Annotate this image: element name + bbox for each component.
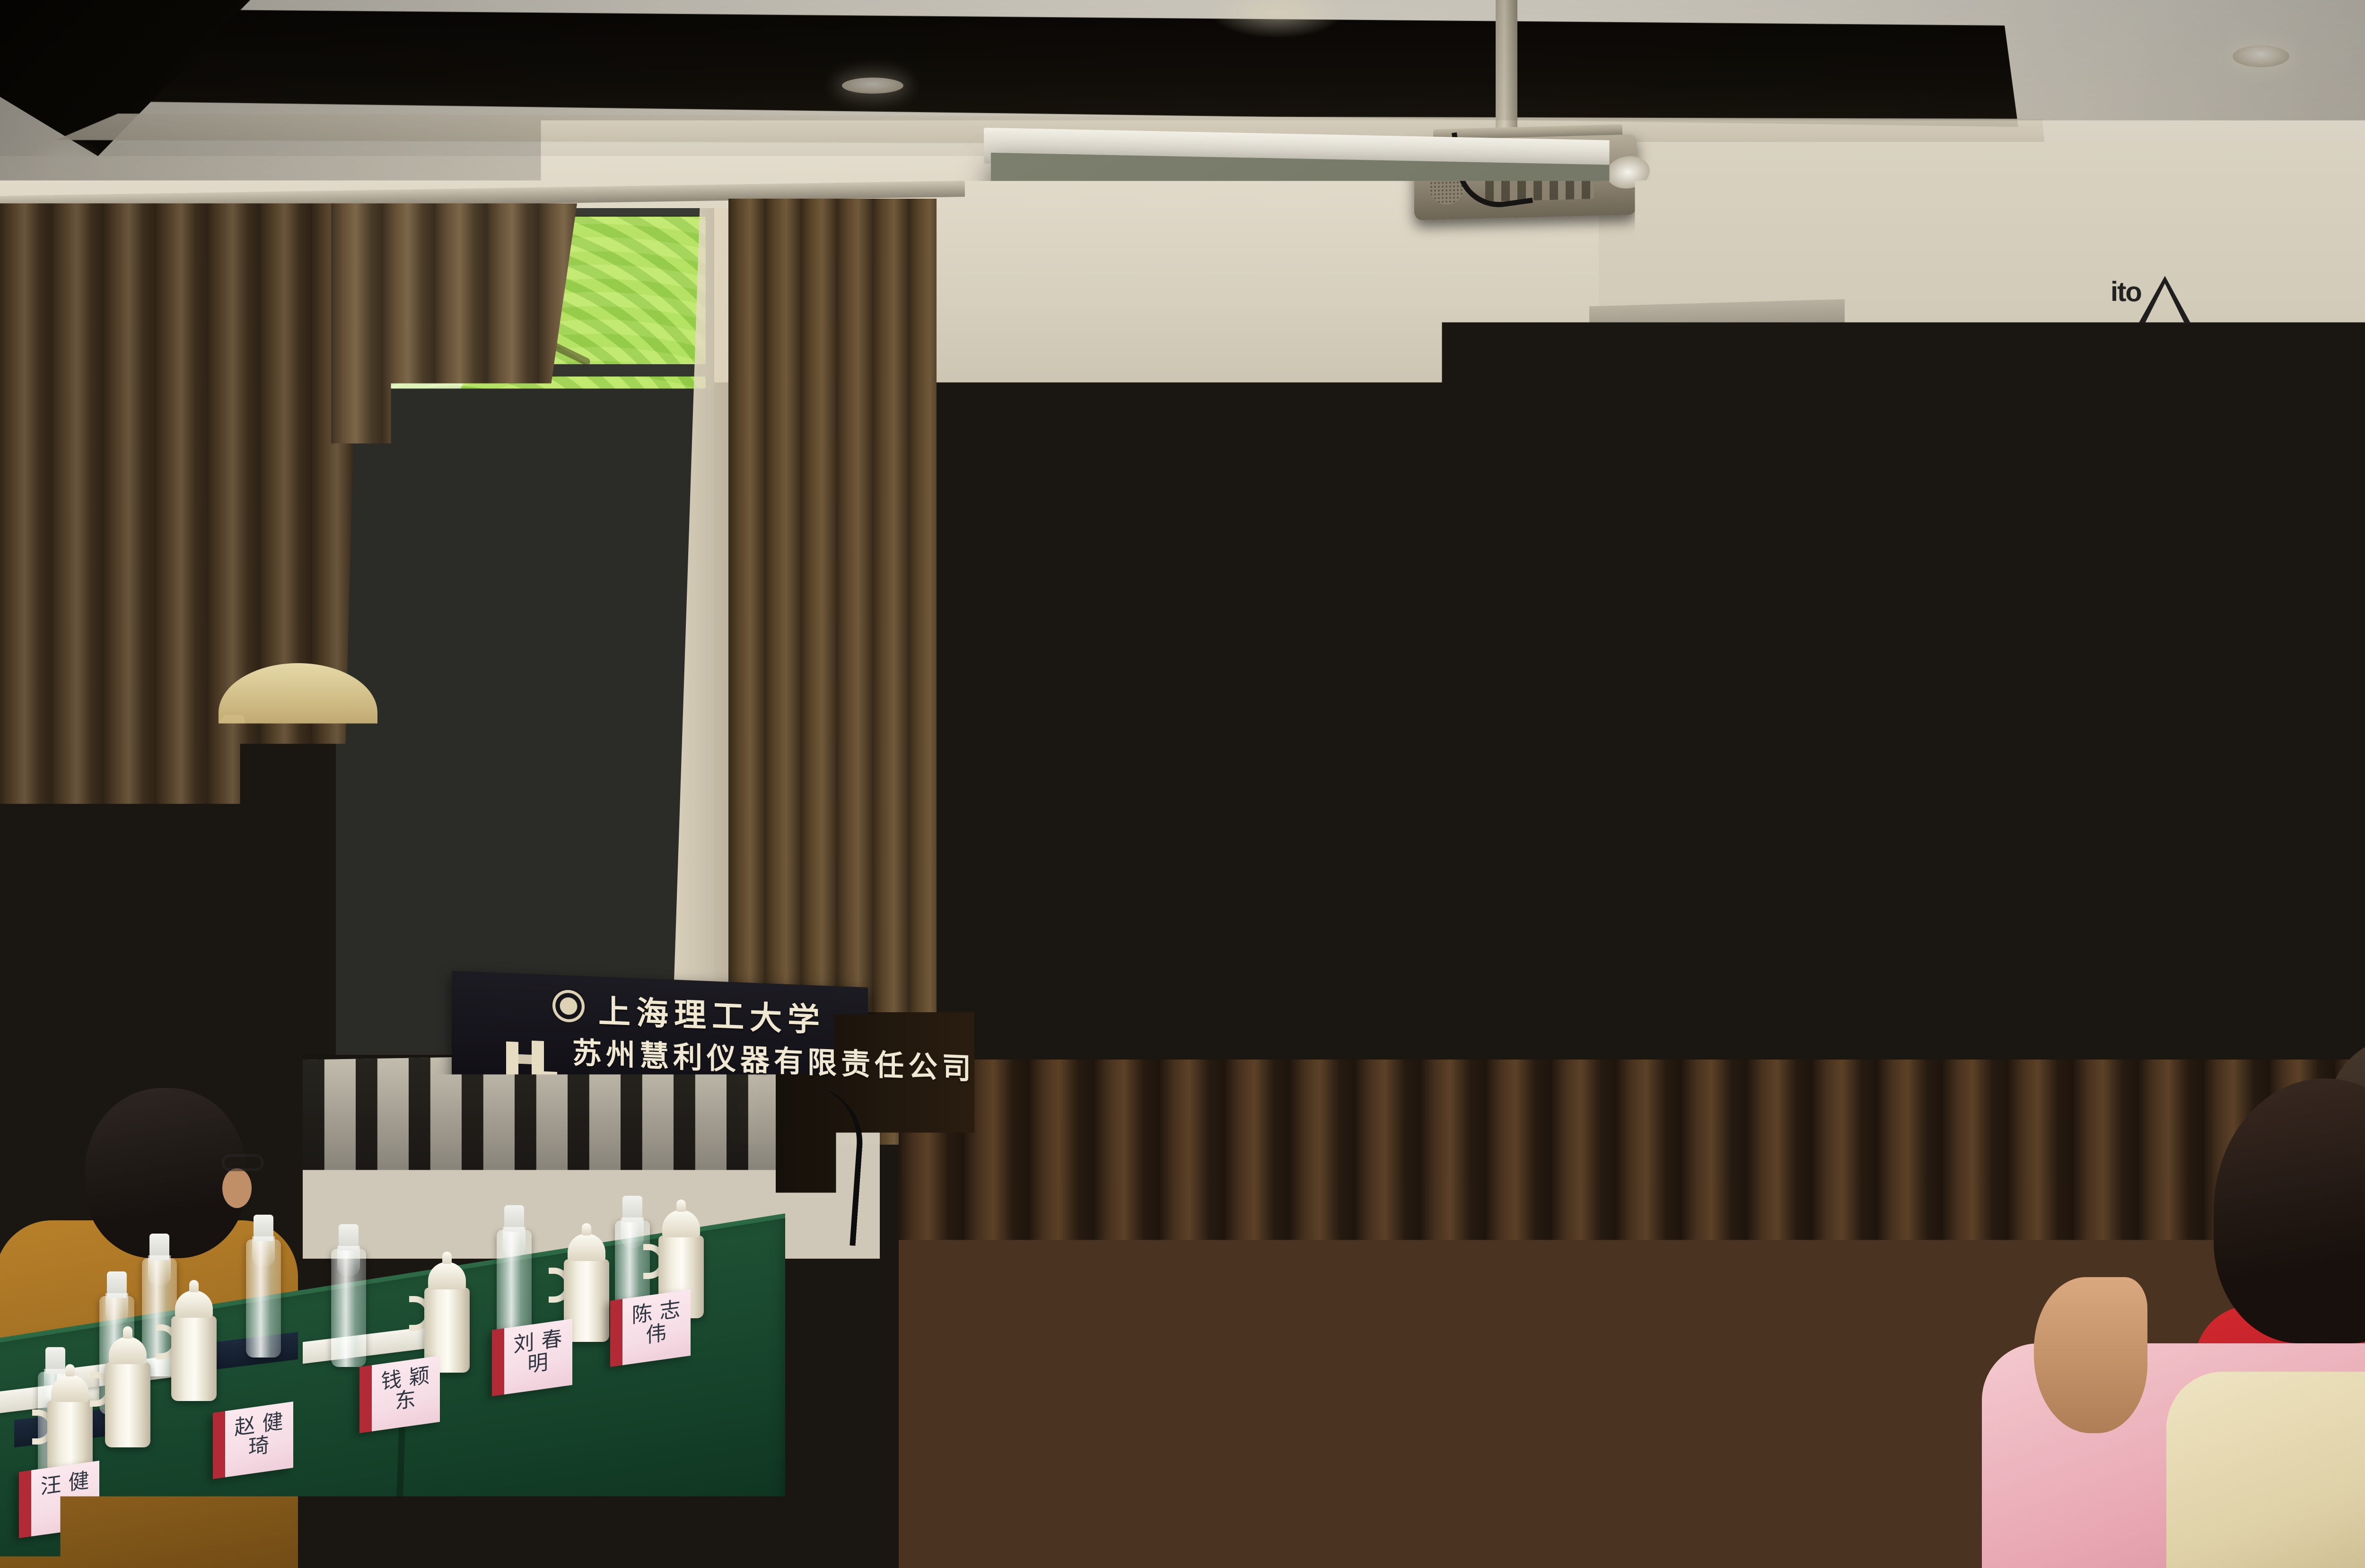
list-item: Optical Metrology: Advantages	[1587, 638, 2192, 685]
projector-mount-arm	[1496, 0, 1517, 142]
lidded-tea-mug[interactable]	[105, 1362, 150, 1447]
ito-logo-wordmark: ito	[2111, 276, 2141, 308]
list-item: Resolution Enhancement: Ways	[1587, 799, 2192, 846]
electromagnetic-field-simulation-figure	[1215, 545, 1536, 925]
bullet-square-icon	[1587, 643, 1612, 668]
name-card: 刘 春 明	[492, 1319, 572, 1396]
slide-footer: H&L-2024: 4	[2073, 965, 2190, 990]
name-card: 赵 健 琦	[213, 1402, 293, 1479]
downlight-icon	[842, 78, 903, 94]
water-bottle[interactable]	[497, 1230, 532, 1339]
podium-hl-instruments-logo-icon	[506, 1040, 558, 1087]
hl-logo-wordmark: INSTRUMENTS	[1161, 291, 1238, 305]
presenter-shirt-placket	[294, 894, 299, 1187]
audience-ear	[222, 1168, 252, 1208]
lidded-tea-mug[interactable]	[171, 1316, 217, 1401]
window-handle[interactable]	[662, 662, 674, 733]
presenter-eyebrow	[233, 733, 278, 739]
list-item: Optical Metrology: Disadvantages	[1587, 718, 2192, 765]
bullet-label: Resolution Enhancement: Ways	[1629, 800, 2125, 845]
name-card	[1745, 1489, 1826, 1567]
slide-header: INSTRUMENTS ito	[1159, 232, 2216, 342]
downlight-icon	[2233, 45, 2289, 67]
presenter-goatee	[265, 788, 336, 840]
presenter-mouth	[275, 800, 324, 812]
name-card-text: 赵 健 琦	[225, 1402, 293, 1463]
name-card-text: 钱 颖 东	[372, 1356, 440, 1417]
name-card: 陈 志 伟	[610, 1289, 691, 1367]
water-bottle[interactable]	[246, 1239, 281, 1358]
bullet-square-icon	[1587, 804, 1612, 829]
slide-header-rule	[1176, 306, 2122, 326]
slide-title: Different Approaches for Resolution Enha…	[1211, 334, 2166, 504]
name-card: 钱 颖 东	[359, 1356, 440, 1433]
projection-screen: INSTRUMENTS ito Different Approaches for…	[991, 153, 2365, 1103]
slide: INSTRUMENTS ito Different Approaches for…	[1159, 232, 2216, 1007]
presenter-hair-side	[214, 715, 245, 810]
presenter-eyebrow	[320, 733, 365, 739]
presenter-glasses	[228, 741, 370, 762]
bullet-label: Current Challenges	[1629, 559, 1930, 599]
bullet-square-icon	[1587, 723, 1612, 748]
name-card-text: 陈 志 伟	[622, 1289, 691, 1350]
bullet-square-icon	[1587, 562, 1612, 587]
name-card: 汪 健	[19, 1461, 99, 1538]
simulation-substrate-field	[1215, 678, 1536, 925]
lidded-tea-mug[interactable]	[1917, 1419, 1962, 1507]
conference-room-photo: INSTRUMENTS ito Different Approaches for…	[0, 0, 2365, 1568]
audience-glasses	[221, 1154, 264, 1171]
list-item: Current Challenges	[1587, 558, 2192, 604]
audience-member-ochre-jacket-head	[85, 1088, 246, 1258]
presenter-nose	[288, 762, 312, 796]
audience-member-pink-shirt-head	[2039, 1168, 2304, 1433]
bullet-label: Optical Metrology: Disadvantages	[1629, 719, 2152, 765]
water-bottle[interactable]	[331, 1249, 366, 1367]
slide-bullet-list: Current Challenges Optical Metrology: Ad…	[1587, 558, 2192, 891]
name-card-text: 刘 春 明	[504, 1319, 572, 1380]
bullet-label: Optical Metrology: Advantages	[1629, 639, 2103, 683]
